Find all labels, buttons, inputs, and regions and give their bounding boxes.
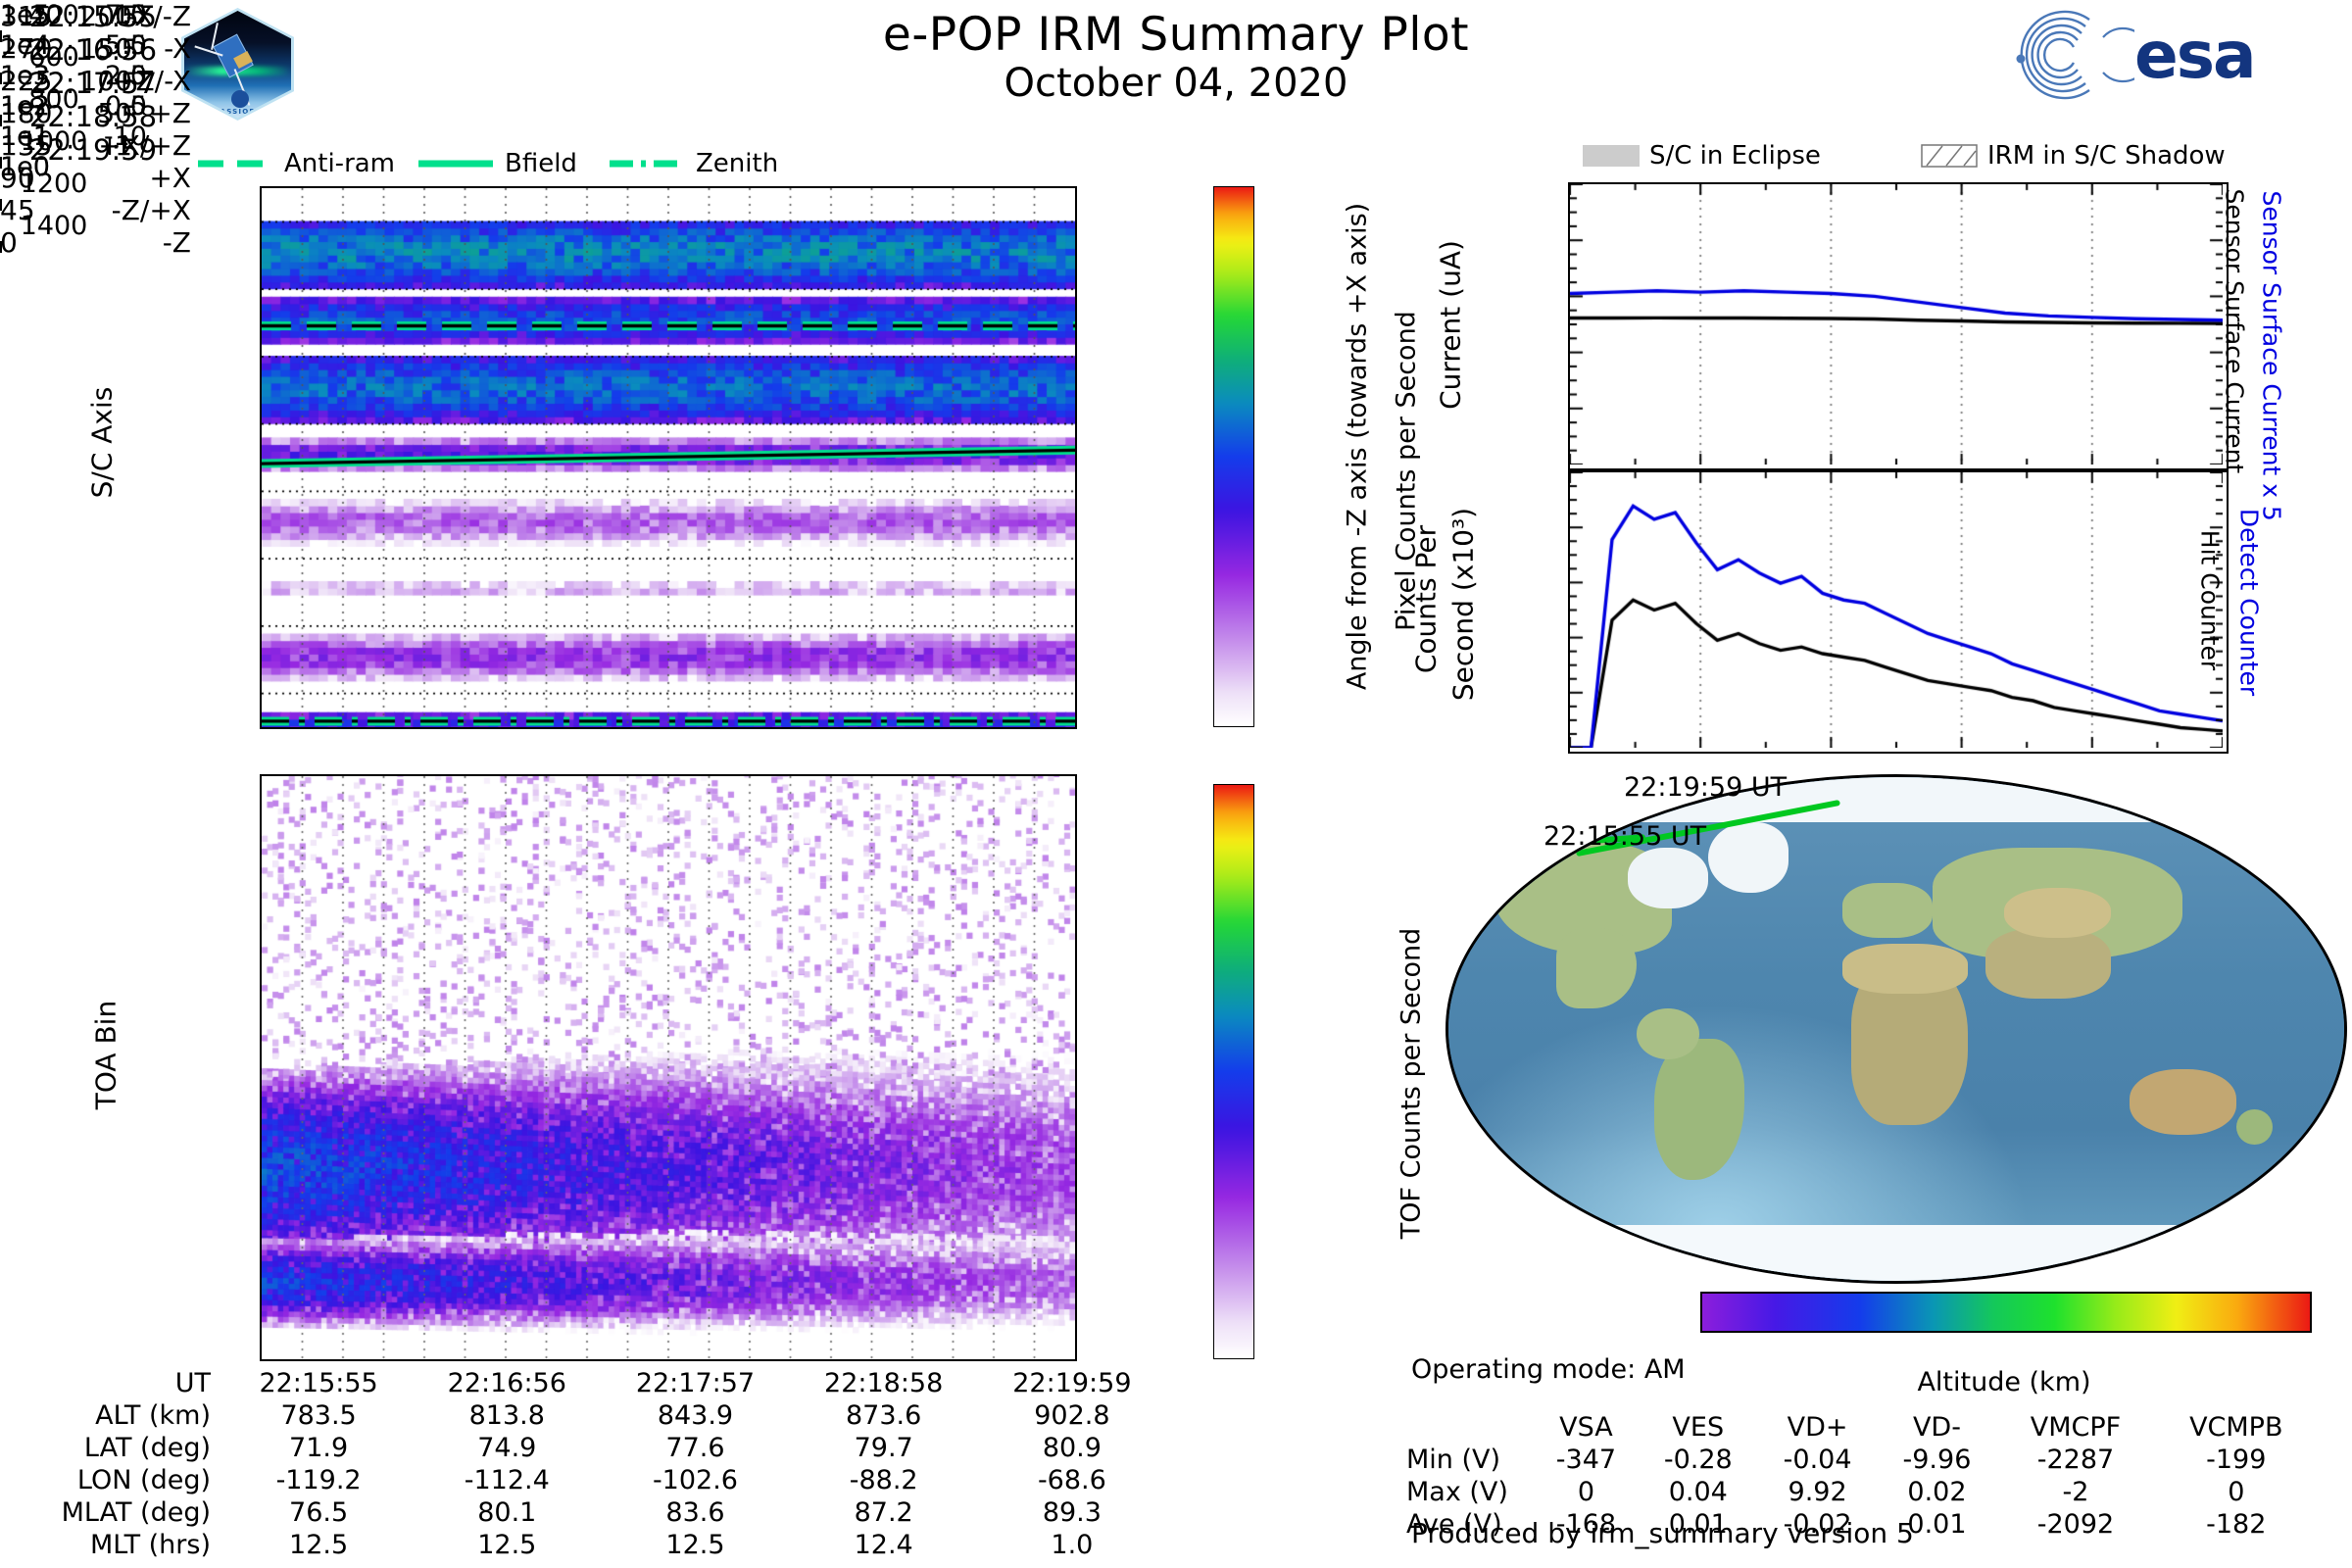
ephemeris-row-header: MLT (hrs) xyxy=(29,1529,224,1561)
legend-label-irm-shadow: IRM in S/C Shadow xyxy=(1987,141,2226,171)
ephemeris-row: LON (deg)-119.2-112.4-102.6-88.2-68.6 xyxy=(29,1464,1166,1496)
ephemeris-cell: 80.1 xyxy=(413,1496,601,1529)
pixel-panel-right-axis-label: Angle from -Z axis (towards +X axis) xyxy=(1343,172,1373,721)
esa-swirl-icon xyxy=(1987,10,2134,100)
ephemeris-cell: 22:16:56 xyxy=(413,1367,601,1399)
toa-panel-ylabel: TOA Bin xyxy=(90,948,122,1163)
ephemeris-cell: -119.2 xyxy=(224,1464,413,1496)
ephemeris-cell: 77.6 xyxy=(601,1432,789,1464)
ephemeris-cell: -112.4 xyxy=(413,1464,601,1496)
ephemeris-cell: 80.9 xyxy=(978,1432,1166,1464)
legend-item-anti-ram: Anti-ram xyxy=(196,147,395,180)
voltage-cell: -347 xyxy=(1534,1444,1639,1476)
ephemeris-cell: 12.4 xyxy=(790,1529,978,1561)
cassiope-logo: CASSIOPE xyxy=(181,8,294,121)
dashed-line-icon xyxy=(196,159,274,169)
altitude-colorbar-tick-5: 1400 xyxy=(0,211,108,241)
ephemeris-cell: 22:18:58 xyxy=(790,1367,978,1399)
legend-label-eclipse: S/C in Eclipse xyxy=(1649,141,1821,171)
voltage-cell: 0 xyxy=(2155,1476,2318,1508)
voltage-cell: -9.96 xyxy=(1878,1444,1997,1476)
voltage-cell: 0.04 xyxy=(1639,1476,1758,1508)
ephemeris-cell: 22:15:55 xyxy=(224,1367,413,1399)
ephemeris-cell: 902.8 xyxy=(978,1399,1166,1432)
ephemeris-cell: 22:17:57 xyxy=(601,1367,789,1399)
voltage-cell: 0.02 xyxy=(1878,1476,1997,1508)
ephemeris-cell: 12.5 xyxy=(413,1529,601,1561)
footer-text: Produced by irm_summary version 5 xyxy=(1411,1517,1914,1549)
legend-label-bfield: Bfield xyxy=(505,149,577,178)
toa-colorbar-title: TOF Counts per Second xyxy=(1396,805,1427,1363)
voltage-corner-cell xyxy=(1406,1411,1534,1444)
ephemeris-cell: 12.5 xyxy=(601,1529,789,1561)
counts-plot-right-label-blue: Detect Counter xyxy=(2235,480,2264,725)
ephemeris-cell: 89.3 xyxy=(978,1496,1166,1529)
voltage-row: Max (V)00.049.920.02-20 xyxy=(1406,1476,2318,1508)
legend-item-eclipse: S/C in Eclipse xyxy=(1583,139,1821,172)
ephemeris-cell: -68.6 xyxy=(978,1464,1166,1496)
counts-plot-ylabel-line2: Second (x10³) xyxy=(1447,458,1480,752)
toa-bin-heatmap xyxy=(260,774,1077,1361)
ephemeris-row-header: ALT (km) xyxy=(29,1399,224,1432)
altitude-colorbar-tickmark-0 xyxy=(0,30,2,42)
altitude-colorbar-tick-2: 800 xyxy=(0,84,108,115)
voltage-column-header: VD- xyxy=(1878,1411,1997,1444)
ephemeris-row-header: MLAT (deg) xyxy=(29,1496,224,1529)
ephemeris-cell: 76.5 xyxy=(224,1496,413,1529)
dashdot-line-icon xyxy=(608,159,686,169)
voltage-cell: 9.92 xyxy=(1758,1476,1878,1508)
altitude-colorbar-tickmark-3 xyxy=(0,157,2,169)
voltage-cell: -2287 xyxy=(1996,1444,2154,1476)
current-plot-ylabel: Current (uA) xyxy=(1435,178,1467,472)
altitude-colorbar-tickmark-4 xyxy=(0,199,2,211)
altitude-colorbar-tick-1: 600 xyxy=(0,42,108,73)
counts-plot-right-label-black: Hit Counter xyxy=(2196,488,2225,713)
voltage-row-header: Max (V) xyxy=(1406,1476,1534,1508)
ephemeris-row-header: UT xyxy=(29,1367,224,1399)
voltage-column-header: VCMPB xyxy=(2155,1411,2318,1444)
voltage-cell: -182 xyxy=(2155,1508,2318,1541)
cassiope-logo-text: CASSIOPE xyxy=(184,108,291,116)
altitude-colorbar-tick-0: 400 xyxy=(0,0,108,30)
current-plot-right-label-blue: Sensor Surface Current x 5 xyxy=(2258,191,2286,485)
pixel-counts-heatmap xyxy=(260,186,1077,729)
voltage-column-header: VD+ xyxy=(1758,1411,1878,1444)
voltage-row-header: Min (V) xyxy=(1406,1444,1534,1476)
legend-item-bfield: Bfield xyxy=(416,147,577,180)
altitude-colorbar-tick-3: 1000 xyxy=(0,126,108,157)
ephemeris-cell: 83.6 xyxy=(601,1496,789,1529)
shadow-legend: S/C in Eclipse IRM in S/C Shadow xyxy=(1529,139,2313,178)
eclipse-swatch-icon xyxy=(1583,145,1640,167)
ephemeris-cell: 813.8 xyxy=(413,1399,601,1432)
voltage-cell: -199 xyxy=(2155,1444,2318,1476)
voltage-cell: 0 xyxy=(1534,1476,1639,1508)
map-label-end: 22:19:59 UT xyxy=(1624,772,1787,803)
legend-item-irm-shadow: IRM in S/C Shadow xyxy=(1921,139,2226,172)
voltage-column-header: VES xyxy=(1639,1411,1758,1444)
legend-label-anti-ram: Anti-ram xyxy=(284,149,395,178)
ephemeris-row: MLAT (deg)76.580.183.687.289.3 xyxy=(29,1496,1166,1529)
altitude-colorbar-title: Altitude (km) xyxy=(1700,1367,2308,1397)
altitude-colorbar-tickmark-5 xyxy=(0,241,2,253)
voltage-cell: -0.28 xyxy=(1639,1444,1758,1476)
ephemeris-row-header: LON (deg) xyxy=(29,1464,224,1496)
voltage-cell: -2 xyxy=(1996,1476,2154,1508)
ephemeris-cell: 71.9 xyxy=(224,1432,413,1464)
ephemeris-cell: 87.2 xyxy=(790,1496,978,1529)
legend-label-zenith: Zenith xyxy=(696,149,778,178)
pixel-colorbar xyxy=(1213,186,1254,727)
altitude-colorbar xyxy=(1700,1292,2312,1333)
current-plot xyxy=(1568,182,2229,470)
ephemeris-cell: 873.6 xyxy=(790,1399,978,1432)
ephemeris-cell: 783.5 xyxy=(224,1399,413,1432)
ephemeris-cell: 12.5 xyxy=(224,1529,413,1561)
ephemeris-cell: -88.2 xyxy=(790,1464,978,1496)
ephemeris-row-header: LAT (deg) xyxy=(29,1432,224,1464)
map-label-start: 22:15:55 UT xyxy=(1543,821,1706,852)
altitude-colorbar-tick-4: 1200 xyxy=(0,169,108,199)
ephemeris-row: ALT (km)783.5813.8843.9873.6902.8 xyxy=(29,1399,1166,1432)
voltage-column-header: VSA xyxy=(1534,1411,1639,1444)
orbit-ground-track-map: 22:19:59 UT 22:15:55 UT xyxy=(1445,774,2347,1284)
pixel-panel-ylabel: S/C Axis xyxy=(86,335,119,551)
counts-plot xyxy=(1568,470,2229,754)
spacecraft-legend: Anti-ram Bfield Zenith xyxy=(176,147,735,180)
ephemeris-cell: 22:19:59 xyxy=(978,1367,1166,1399)
ephemeris-table: UT22:15:5522:16:5622:17:5722:18:5822:19:… xyxy=(29,1367,1166,1561)
altitude-colorbar-tickmark-2 xyxy=(0,115,2,126)
ephemeris-cell: 74.9 xyxy=(413,1432,601,1464)
hatched-swatch-icon xyxy=(1921,144,1978,168)
counts-plot-ylabel-line1: Counts Per xyxy=(1410,453,1443,747)
ephemeris-cell: 79.7 xyxy=(790,1432,978,1464)
ephemeris-row: UT22:15:5522:16:5622:17:5722:18:5822:19:… xyxy=(29,1367,1166,1399)
esa-wordmark: esa xyxy=(2134,18,2255,93)
voltage-cell: -0.04 xyxy=(1758,1444,1878,1476)
voltage-cell: -2092 xyxy=(1996,1508,2154,1541)
esa-logo: esa xyxy=(1987,10,2321,100)
ephemeris-cell: -102.6 xyxy=(601,1464,789,1496)
ephemeris-row: MLT (hrs)12.512.512.512.41.0 xyxy=(29,1529,1166,1561)
operating-mode-text: Operating mode: AM xyxy=(1411,1354,1686,1385)
toa-colorbar xyxy=(1213,784,1254,1359)
solid-line-icon xyxy=(416,159,495,169)
ephemeris-cell: 1.0 xyxy=(978,1529,1166,1561)
voltage-row: Min (V)-347-0.28-0.04-9.96-2287-199 xyxy=(1406,1444,2318,1476)
voltage-header-row: VSAVESVD+VD-VMCPFVCMPB xyxy=(1406,1411,2318,1444)
altitude-colorbar-tick-group: 400600800100012001400 xyxy=(0,0,108,253)
current-plot-right-label-black: Sensor Surface Current xyxy=(2221,189,2249,464)
ephemeris-row: LAT (deg)71.974.977.679.780.9 xyxy=(29,1432,1166,1464)
ephemeris-cell: 843.9 xyxy=(601,1399,789,1432)
altitude-colorbar-tickmark-1 xyxy=(0,73,2,84)
voltage-column-header: VMCPF xyxy=(1996,1411,2154,1444)
legend-item-zenith: Zenith xyxy=(608,147,778,180)
